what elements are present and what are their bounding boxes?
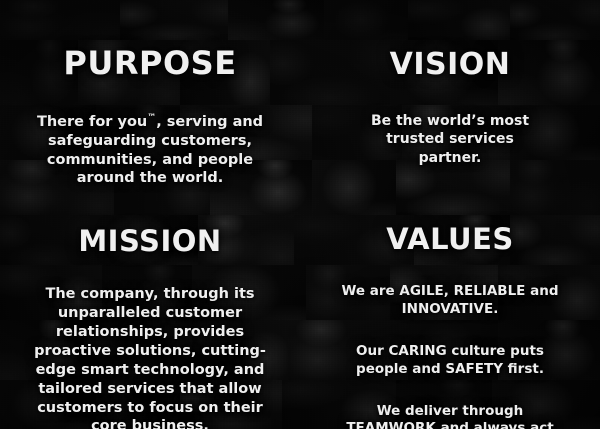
vision-line-1: Be the world’s: [371, 113, 485, 129]
vision-heading: VISION: [390, 50, 511, 80]
purpose-line-3: communities, and people: [47, 152, 253, 168]
values-statement-1: We are AGILE, RELIABLE and INNOVATIVE.: [330, 283, 570, 318]
mission-heading: MISSION: [78, 227, 221, 256]
vision-body: Be the world’s most trusted services par…: [363, 112, 538, 167]
purpose-heading: PURPOSE: [63, 47, 236, 79]
values-section: VALUES We are AGILE, RELIABLE and INNOVA…: [300, 202, 600, 429]
values-poster: PURPOSE There for you™, serving and safe…: [0, 0, 600, 429]
purpose-line-1b: , serving and: [156, 114, 263, 130]
purpose-line-2: safeguarding customers,: [48, 133, 252, 149]
mission-line-2: unparalleled customer: [58, 305, 242, 321]
mission-section: MISSION The company, through its unparal…: [0, 202, 300, 429]
content-grid: PURPOSE There for you™, serving and safe…: [0, 0, 600, 429]
mission-body: The company, through its unparalleled cu…: [19, 285, 281, 429]
values-statement-1-line-1: We are AGILE, RELIABLE: [342, 283, 526, 299]
purpose-section: PURPOSE There for you™, serving and safe…: [0, 0, 300, 202]
values-statement-3-line-1: We deliver through: [377, 403, 524, 419]
trademark-symbol: ™: [147, 113, 156, 123]
values-statement-2-line-1: Our CARING culture puts: [356, 343, 544, 359]
mission-line-1: The company, through its: [45, 286, 254, 302]
purpose-body: There for you™, serving and safeguarding…: [30, 113, 270, 188]
values-statement-2: Our CARING culture puts people and SAFET…: [330, 343, 570, 378]
vision-section: VISION Be the world’s most trusted servi…: [300, 0, 600, 202]
values-statement-3: We deliver through TEAMWORK and always a…: [330, 403, 570, 429]
values-heading: VALUES: [386, 225, 514, 254]
values-statement-2-line-2: people and SAFETY first.: [356, 361, 544, 377]
purpose-line-4: around the world.: [77, 170, 223, 186]
purpose-line-1a: There for you: [37, 114, 147, 130]
values-statement-3-line-2: TEAMWORK and always: [346, 420, 525, 429]
